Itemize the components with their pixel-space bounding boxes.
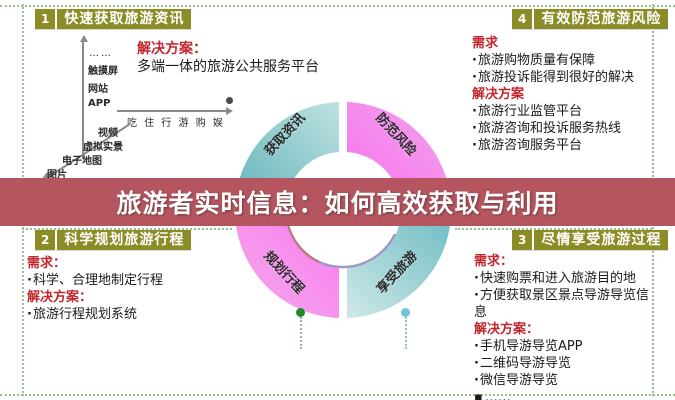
connector-dot-bottom-right — [401, 308, 410, 317]
panel-1-vaxis-item-2: 网站 — [88, 80, 108, 95]
panel-1-vaxis-item-0: …… — [89, 48, 113, 59]
leader-line-bottom-right — [405, 317, 407, 349]
panel-1-solution-label: 解决方案： — [137, 40, 319, 58]
panel-3-need-label: 需求： — [474, 253, 652, 270]
panel-3-title: 尽情享受旅游过程 — [534, 230, 668, 250]
panel-4-number: 4 — [512, 9, 534, 29]
panel-1-vaxis-item-3: APP — [88, 98, 110, 109]
panel-3-body: 需求： 快速购票和进入旅游目的地 方便获取景区景点导游导览信息 解决方案： 手机… — [474, 253, 652, 400]
panel-2-solution-label: 解决方案： — [27, 289, 227, 306]
panel-3-solution-label: 解决方案： — [474, 321, 652, 338]
panel-1-daxis-item-0: 视频 — [98, 124, 118, 139]
panel-2-need-0: 科学、合理地制定行程 — [27, 272, 227, 289]
panel-1-vaxis-item-1: 触摸屏 — [88, 62, 118, 77]
title-banner: 旅游者实时信息：如何高效获取与利用 — [0, 178, 675, 226]
panel-1-haxis-items: 吃 住 行 游 购 娱 — [127, 114, 225, 129]
panel-2-need-label: 需求： — [27, 255, 227, 272]
panel-2-badge: 2 科学规划旅游行程 — [35, 230, 191, 250]
panel-3-solution-1: 二维码导游导览 — [474, 355, 652, 372]
panel-3-need-0: 快速购票和进入旅游目的地 — [474, 270, 652, 287]
panel-1-solution: 解决方案： 多端一体的旅游公共服务平台 — [137, 40, 319, 77]
panel-4-need-1: 旅游投诉能得到很好的解决 — [472, 69, 652, 86]
panel-2-body: 需求： 科学、合理地制定行程 解决方案： 旅游行程规划系统 — [27, 255, 227, 323]
panel-3-badge: 3 尽情享受旅游过程 — [512, 230, 668, 250]
infographic-canvas: 获取资讯 防范风险 规划行程 享受旅游 游客需求 1 快速获取旅游资讯 …… 触… — [0, 0, 675, 400]
panel-4-solution-label: 解决方案 — [472, 86, 652, 103]
panel-1-daxis-item-2: 电子地图 — [62, 152, 102, 167]
panel-3-solution-3: …… — [474, 389, 652, 400]
leader-line-bottom-left — [300, 317, 302, 349]
panel-3-number: 3 — [512, 230, 534, 250]
panel-4-need-0: 旅游购物质量有保障 — [472, 52, 652, 69]
panel-4-body: 需求 旅游购物质量有保障 旅游投诉能得到很好的解决 解决方案 旅游行业监管平台 … — [472, 35, 652, 154]
banner-title: 旅游者实时信息：如何高效获取与利用 — [116, 184, 558, 220]
panel-2-solution-0: 旅游行程规划系统 — [27, 306, 227, 323]
panel-1-body: …… 触摸屏 网站 APP 吃 住 行 游 购 娱 视频 虚拟实景 电子地图 图… — [0, 0, 340, 178]
connector-dot-bottom-left — [296, 308, 305, 317]
panel-4-title: 有效防范旅游风险 — [534, 9, 668, 29]
panel-4-need-label: 需求 — [472, 35, 652, 52]
panel-2-number: 2 — [35, 230, 57, 250]
panel-4-solution-0: 旅游行业监管平台 — [472, 103, 652, 120]
panel-4-solution-2: 旅游咨询服务平台 — [472, 137, 652, 154]
panel-1-daxis-item-1: 虚拟实景 — [83, 138, 123, 153]
panel-4-solution-1: 旅游咨询和投诉服务热线 — [472, 120, 652, 137]
panel-1-solution-text: 多端一体的旅游公共服务平台 — [137, 58, 319, 77]
panel-3-need-1: 方便获取景区景点导游导览信息 — [474, 287, 652, 321]
panel-2-title: 科学规划旅游行程 — [57, 230, 191, 250]
panel-4-badge: 4 有效防范旅游风险 — [512, 9, 668, 29]
panel-3-solution-0: 手机导游导览APP — [474, 338, 652, 355]
panel-1-horizontal-axis — [117, 110, 227, 112]
panel-3-solution-2: 微信导游导览 — [474, 372, 652, 389]
